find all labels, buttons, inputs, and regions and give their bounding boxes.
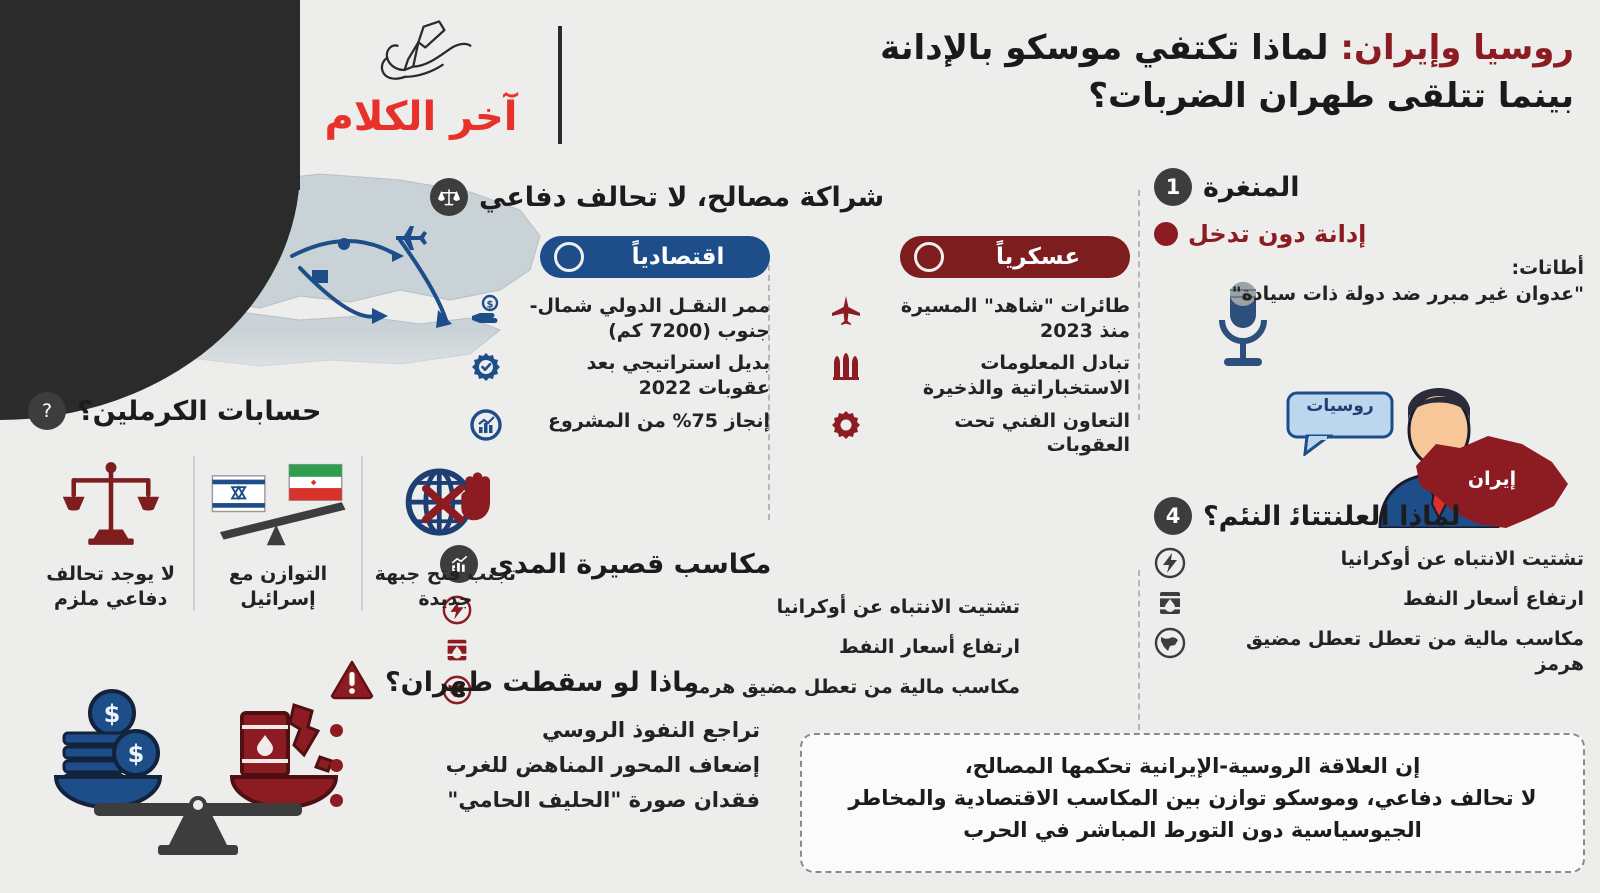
if-tehran-falls-section: ماذا لو سقطت طهران؟ تراجع النفوذ الروسي … [330, 660, 760, 823]
globe-icon [1154, 627, 1186, 659]
brand-logo-text: آخر الكلام [314, 97, 528, 137]
page-title: روسيا وإيران: لماذا تكتفي موسكو بالإدانة… [562, 18, 1600, 121]
hand-dollar-icon: $ [470, 294, 502, 326]
toggle-knob-icon [554, 242, 584, 272]
kremlin-cell-label: لا يوجد تحالف دفاعي ملزم [34, 562, 187, 611]
kremlin-cell-balance-israel: التوازن مع إسرائيل [195, 456, 362, 611]
header: آخر الكلام روسيا وإيران: لماذا تكتفي موس… [300, 18, 1600, 168]
list-item-label: مكاسب مالية من تعطل تعطل مضيق هرمز [1197, 627, 1584, 676]
brand-logo[interactable]: آخر الكلام [306, 18, 536, 143]
military-list: طائرات "شاهد" المسيرة منذ 2023 تبادل الم… [830, 294, 1130, 458]
oil-barrel-icon [1154, 587, 1186, 619]
hand-writing-icon [306, 18, 536, 96]
list-item: إضعاف المحور المناهض للغرب [330, 753, 760, 777]
section-1-title: المنغرة [1203, 172, 1300, 203]
partnership-heading: شراكة مصالح، لا تحالف دفاعي [430, 178, 1130, 216]
list-item-label: ارتفاع أسعار النفط [483, 635, 1020, 660]
kremlin-title: حسابات الكرملين؟ [77, 396, 322, 427]
bullet-dot-icon [1154, 222, 1178, 246]
list-item: طائرات "شاهد" المسيرة منذ 2023 [830, 294, 1130, 343]
section-1-subtitle: إدانة دون تدخل [1188, 220, 1366, 248]
gear-check-icon [470, 351, 502, 383]
if-tehran-falls-title: ماذا لو سقطت طهران؟ [385, 667, 699, 698]
title-rest: لماذا تكتفي موسكو بالإدانة [880, 28, 1328, 68]
partnership-title: شراكة مصالح، لا تحالف دفاعي [479, 182, 884, 213]
bullet-dot-icon [330, 759, 343, 772]
list-item: $ ممر النقـل الدولي شمال-جنوب (7200 كم) [470, 294, 770, 343]
list-item-label: إضعاف المحور المناهض للغرب [355, 753, 760, 777]
list-item: فقدان صورة "الحليف الحامي" [330, 788, 760, 812]
svg-text:$: $ [128, 740, 145, 768]
speech-bubble: روسيات [1285, 390, 1395, 456]
list-item-label: التعاون الفني تحت العقوبات [873, 409, 1130, 458]
list-item: تراجع النفوذ الروسي [330, 718, 760, 742]
list-item: تبادل المعلومات الاستخباراتية والذخيرة [830, 351, 1130, 400]
list-item-label: فقدان صورة "الحليف الحامي" [355, 788, 760, 812]
gear-icon [830, 409, 862, 441]
list-item-label: تراجع النفوذ الروسي [355, 718, 760, 742]
infographic-canvas: آخر الكلام روسيا وإيران: لماذا تكتفي موس… [0, 0, 1600, 893]
list-item-label: تشتيت الانتباه عن أوكرانيا [1197, 547, 1584, 572]
section-1-quote: أطاتات: "عدوان غير مبرر ضد دولة ذات سياد… [1230, 256, 1584, 307]
section-4-list: تشتيت الانتباه عن أوكرانيا ارتفاع أسعار … [1154, 547, 1584, 676]
list-item-label: بديل استراتيجي بعد عقوبات 2022 [513, 351, 770, 400]
if-tehran-falls-list: تراجع النفوذ الروسي إضعاف المحور المناهض… [330, 718, 760, 812]
scales-icon [430, 178, 468, 216]
divider-vertical-1 [1138, 190, 1140, 420]
bullet-dot-icon [330, 794, 343, 807]
partnership-section: شراكة مصالح، لا تحالف دفاعي عسكرياً طائر… [430, 178, 1130, 466]
title-line-2: بينما تتلقى طهران الضربات؟ [562, 72, 1574, 120]
list-item-label: إنجاز 75% من المشروع [513, 409, 770, 434]
money-oil-balance-icon: $ $ [20, 655, 350, 855]
question-mark-icon: ? [28, 392, 66, 430]
section-4-title: لماذا العلنتتاﺋ النئم؟ [1203, 501, 1461, 532]
list-item-label: تبادل المعلومات الاستخباراتية والذخيرة [873, 351, 1130, 400]
kremlin-cell-avoid-front: تجنب فتح جبهة جديدة [363, 456, 528, 611]
short-term-title: مكاسب قصيرة المدى [489, 549, 771, 580]
economic-pill-label: اقتصادياً [594, 244, 762, 270]
section-1-number: 1 [1154, 168, 1192, 206]
toggle-knob-icon [914, 242, 944, 272]
warplane-icon [830, 294, 862, 326]
list-item: ارتفاع أسعار النفط [1154, 587, 1584, 619]
economic-pill[interactable]: اقتصادياً [540, 236, 770, 278]
list-item: تشتيت الانتباه عن أوكرانيا [1154, 547, 1584, 579]
if-tehran-falls-heading: ماذا لو سقطت طهران؟ [330, 660, 760, 704]
divider-vertical-2 [1138, 570, 1140, 730]
section-1-subtitle-row: إدانة دون تدخل [1154, 220, 1584, 248]
section-4-number: 4 [1154, 497, 1192, 535]
conclusion-line-3: الجيوسياسية دون التورط المباشر في الحرب [828, 815, 1557, 847]
list-item: التعاون الفني تحت العقوبات [830, 409, 1130, 458]
kremlin-cell-label: تجنب فتح جبهة جديدة [369, 562, 522, 611]
speech-bubble-label: روسيات [1285, 396, 1395, 416]
kremlin-heading: حسابات الكرملين؟ ? [28, 392, 528, 430]
list-item-label: ممر النقـل الدولي شمال-جنوب (7200 كم) [513, 294, 770, 343]
quote-label: أطاتات: [1230, 256, 1584, 282]
header-divider [558, 26, 562, 144]
military-pill-label: عسكرياً [954, 244, 1122, 270]
section-1-quote-block: أطاتات: "عدوان غير مبرر ضد دولة ذات سياد… [1154, 256, 1584, 307]
military-pill[interactable]: عسكرياً [900, 236, 1130, 278]
quote-text: "عدوان غير مبرر ضد دولة ذات سيادة" [1230, 282, 1584, 308]
list-item-label: تشتيت الانتباه عن أوكرانيا [483, 595, 1020, 620]
section-4-heading: 4 لماذا العلنتتاﺋ النئم؟ [1154, 497, 1584, 535]
list-item-label: ارتفاع أسعار النفط [1197, 587, 1584, 612]
title-highlight: روسيا وإيران: [1340, 28, 1574, 68]
globe-stop-icon [369, 456, 522, 552]
svg-text:$: $ [104, 700, 121, 728]
kremlin-cell-label: التوازن مع إسرائيل [201, 562, 354, 611]
partnership-columns: عسكرياً طائرات "شاهد" المسيرة منذ 2023 ت… [430, 236, 1130, 466]
kremlin-section: حسابات الكرملين؟ ? تجنب [28, 392, 528, 611]
seesaw-flags-icon [201, 456, 354, 552]
title-line-1: روسيا وإيران: لماذا تكتفي موسكو بالإدانة [562, 24, 1574, 72]
kremlin-cell-no-alliance: لا يوجد تحالف دفاعي ملزم [28, 456, 195, 611]
justice-scales-icon [34, 456, 187, 552]
list-item-label: طائرات "شاهد" المسيرة منذ 2023 [873, 294, 1130, 343]
lightning-icon [1154, 547, 1186, 579]
svg-text:$: $ [487, 300, 494, 311]
military-column: عسكرياً طائرات "شاهد" المسيرة منذ 2023 ت… [830, 236, 1130, 466]
conclusion-line-1: إن العلاقة الروسية-الإيرانية تحكمها المص… [828, 751, 1557, 783]
bullet-dot-icon [330, 724, 343, 737]
kremlin-grid: تجنب فتح جبهة جديدة [28, 456, 528, 611]
conclusion-box: إن العلاقة الروسية-الإيرانية تحكمها المص… [800, 733, 1585, 873]
warning-triangle-icon [330, 660, 374, 704]
missiles-icon [830, 351, 862, 383]
list-item: مكاسب مالية من تعطل تعطل مضيق هرمز [1154, 627, 1584, 676]
conclusion-line-2: لا تحالف دفاعي، وموسكو توازن بين المكاسب… [828, 783, 1557, 815]
section-1-heading: 1 المنغرة [1154, 168, 1584, 206]
